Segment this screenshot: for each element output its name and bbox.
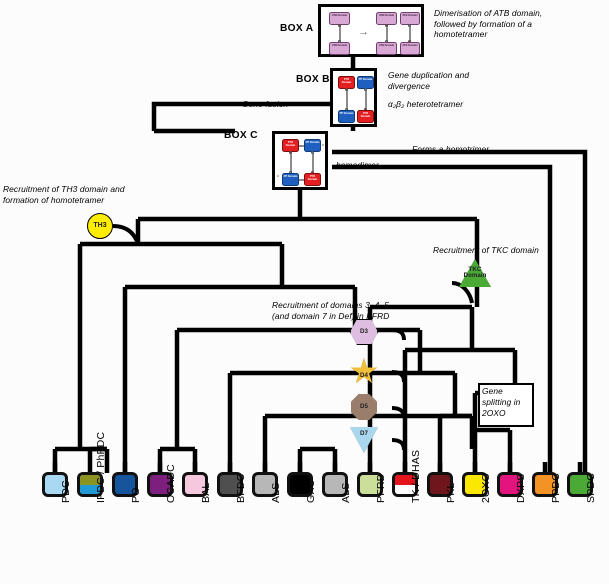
blue-dot [408, 24, 411, 27]
c-terminus-label: C [277, 174, 279, 178]
forms-homotrimer-note: Forms a homotrimer [412, 144, 489, 155]
leaf-label: SPDC [585, 473, 597, 503]
d3-domain-glyph: D3 [350, 319, 378, 345]
c-terminus-label: C [322, 143, 324, 147]
gene-splitting-note: Gene splitting in 2OXO [482, 386, 534, 419]
leaf-label: DXPS [515, 474, 527, 503]
leaf-label: IPDC / PhPDC [95, 432, 107, 503]
pyr-block: PYR Domain [304, 173, 321, 186]
figure-canvas: BOX A ATB Domain ATB Domain → ATB Domain… [0, 0, 609, 584]
blue-dot [364, 88, 367, 91]
atb-block: ATB Domain [376, 42, 397, 55]
leaf-label: ALS [340, 483, 352, 503]
atb-block: ATB Domain [329, 42, 350, 55]
linker [365, 89, 367, 110]
leaf-label: ALS [270, 483, 282, 503]
red-dot [345, 88, 348, 91]
leaf-label: TK / DHAS [410, 450, 422, 503]
box-a-note: Dimerisation of ATB domain, followed by … [434, 8, 604, 40]
leaf-label: PFRD [375, 474, 387, 503]
tkc-label: TKC Domain [459, 259, 491, 287]
tkc-domain-glyph: TKC Domain [459, 259, 491, 287]
recruit-345-note: Recruitment of domains 3, 4, 5 (and doma… [272, 300, 472, 321]
pp-block: PP Domain [282, 173, 299, 186]
box-a-schematic: ATB Domain ATB Domain → ATB Domain ATB D… [318, 4, 424, 57]
leaf-label: BFDC [235, 474, 247, 503]
linker [312, 152, 314, 173]
leaf-label: PKL [445, 483, 457, 503]
homodimer-note: homodimer [336, 160, 379, 171]
th3-label: TH3 [88, 214, 112, 238]
atb-block: ATB Domain [400, 12, 420, 25]
box-b-label: BOX B [296, 74, 330, 85]
leaf-label: GXC [305, 480, 317, 503]
leaf-label: BAL [200, 483, 212, 503]
leaf-label: PPDC [550, 473, 562, 503]
th3-domain-glyph: TH3 [87, 213, 113, 239]
atb-block: ATB Domain [400, 42, 420, 55]
linker [290, 152, 292, 173]
box-c-label: BOX C [224, 130, 258, 141]
d3-label: D3 [350, 319, 378, 345]
recruit-th3-note: Recruitment of TH3 domain and formation … [3, 184, 203, 205]
d7-label: D7 [350, 427, 378, 457]
pyr-block: PYR Domain [357, 110, 374, 123]
arrow-icon: → [358, 27, 369, 38]
d7-domain-glyph: D7 [350, 427, 378, 453]
leaf-label: OCADC [165, 464, 177, 503]
box-c-schematic: PYR Domain PP Domain C C PP Domain PYR D… [272, 131, 328, 190]
box-b-note: Gene duplication and divergence [388, 70, 548, 91]
red-dot [385, 24, 388, 27]
d4-label: D4 [350, 358, 378, 389]
blue-dot [311, 151, 314, 154]
leaf-label: PO [130, 487, 142, 503]
pp-block: PP Domain [338, 110, 355, 123]
gene-fusion-note: Gene fusion [242, 99, 288, 110]
leaf-label: 2OXO [480, 473, 492, 503]
red-dot [289, 151, 292, 154]
linker [346, 89, 348, 110]
leaf-label: PDC [60, 480, 72, 503]
red-dot [338, 24, 341, 27]
recruit-tkc-note: Recruitment of TKC domain [433, 245, 539, 256]
box-b-schematic: PYR Domain PP Domain PP Domain PYR Domai… [330, 68, 377, 127]
box-b-note-2: α₂β₂ heterotetramer [388, 99, 548, 110]
d4-domain-glyph: D4 [350, 358, 378, 385]
d5-domain-glyph: D5 [351, 394, 377, 420]
box-a-label: BOX A [280, 23, 313, 34]
d5-label: D5 [351, 394, 377, 420]
